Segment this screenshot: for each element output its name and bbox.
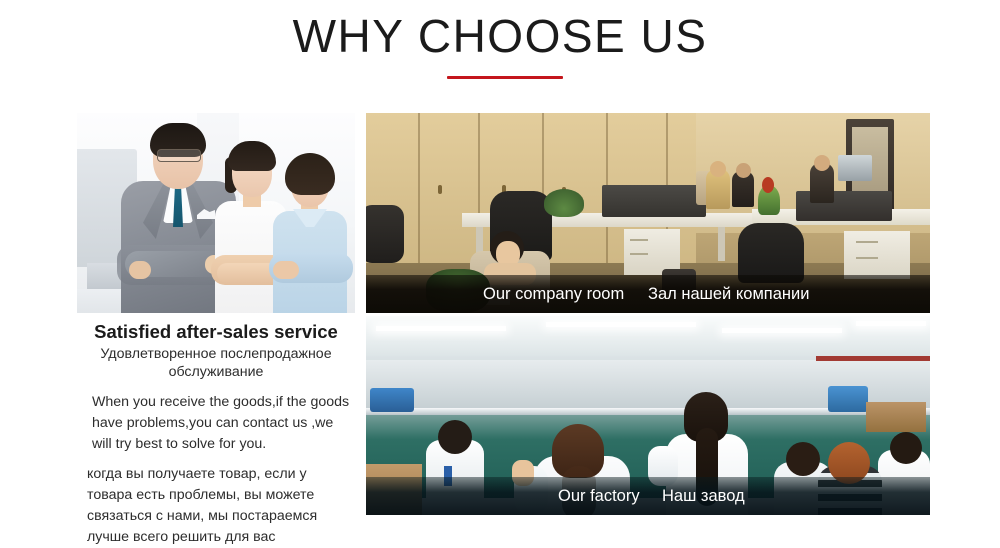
- blue-parts-bin-2: [828, 386, 868, 412]
- office-chair-2: [738, 223, 804, 283]
- factory-caption-band: Our factory Наш завод: [366, 477, 930, 515]
- factory-worker-6-head: [890, 432, 922, 464]
- ceiling-lamp-2: [546, 322, 696, 327]
- factory-caption-ru: Наш завод: [662, 487, 745, 506]
- after-sales-service-block: Satisfied after-sales service Удовлетвор…: [77, 113, 355, 548]
- factory-photo: Our factory Наш завод: [366, 316, 930, 515]
- woman-two-hair: [285, 153, 335, 195]
- cardboard-box-upper: [866, 402, 926, 432]
- service-heading-ru: Удовлетворенное послепродажное обслужива…: [77, 345, 355, 381]
- company-room-caption-ru: Зал нашей компании: [648, 285, 809, 304]
- team-photo: [77, 113, 355, 313]
- ceiling-lamp-3: [722, 328, 842, 333]
- woman-one-hair: [228, 141, 276, 171]
- drawer-handle-2: [630, 253, 648, 255]
- drawer-handle-1: [630, 239, 648, 241]
- desktop-monitor: [838, 155, 872, 181]
- factory-worker-1-head: [438, 420, 472, 454]
- seated-colleague-1-head: [710, 161, 726, 177]
- page-title: WHY CHOOSE US: [0, 8, 1000, 64]
- cubicle-partition-1: [602, 185, 706, 217]
- ceiling-lamp-1: [376, 326, 506, 331]
- company-room-caption-en: Our company room: [483, 285, 624, 304]
- desk-plant-large: [544, 189, 584, 217]
- desk-leg-2: [718, 227, 725, 261]
- drawer-handle-3: [856, 241, 878, 243]
- red-pipe: [816, 356, 930, 361]
- cabinet-seam-1: [418, 113, 420, 263]
- title-underline-accent: [447, 76, 563, 79]
- ceiling-lamp-4: [856, 321, 926, 326]
- drawer-unit-2: [844, 231, 910, 279]
- cabinet-handle-1: [438, 185, 442, 194]
- why-choose-us-banner: WHY CHOOSE US: [0, 0, 1000, 522]
- office-chair-3: [366, 205, 404, 263]
- businessman-glasses: [157, 149, 201, 162]
- woman-two-hand: [273, 261, 299, 279]
- factory-worker-4-head: [786, 442, 820, 476]
- seated-colleague-3-head: [814, 155, 830, 171]
- blue-parts-bin-1: [370, 388, 414, 412]
- factory-caption-en: Our factory: [558, 487, 640, 506]
- service-paragraph-en: When you receive the goods,if the goods …: [77, 392, 355, 455]
- service-heading-en: Satisfied after-sales service: [77, 320, 355, 344]
- service-paragraph-ru: когда вы получаете товар, если у товара …: [77, 464, 355, 548]
- seated-colleague-2-head: [736, 163, 751, 178]
- red-flower: [762, 177, 774, 193]
- company-room-caption-band: Our company room Зал нашей компании: [366, 275, 930, 313]
- company-room-photo: Our company room Зал нашей компании: [366, 113, 930, 313]
- facility-photos-block: Our company room Зал нашей компании: [366, 113, 930, 515]
- drawer-handle-4: [856, 257, 878, 259]
- businessman-hand-right: [129, 261, 151, 279]
